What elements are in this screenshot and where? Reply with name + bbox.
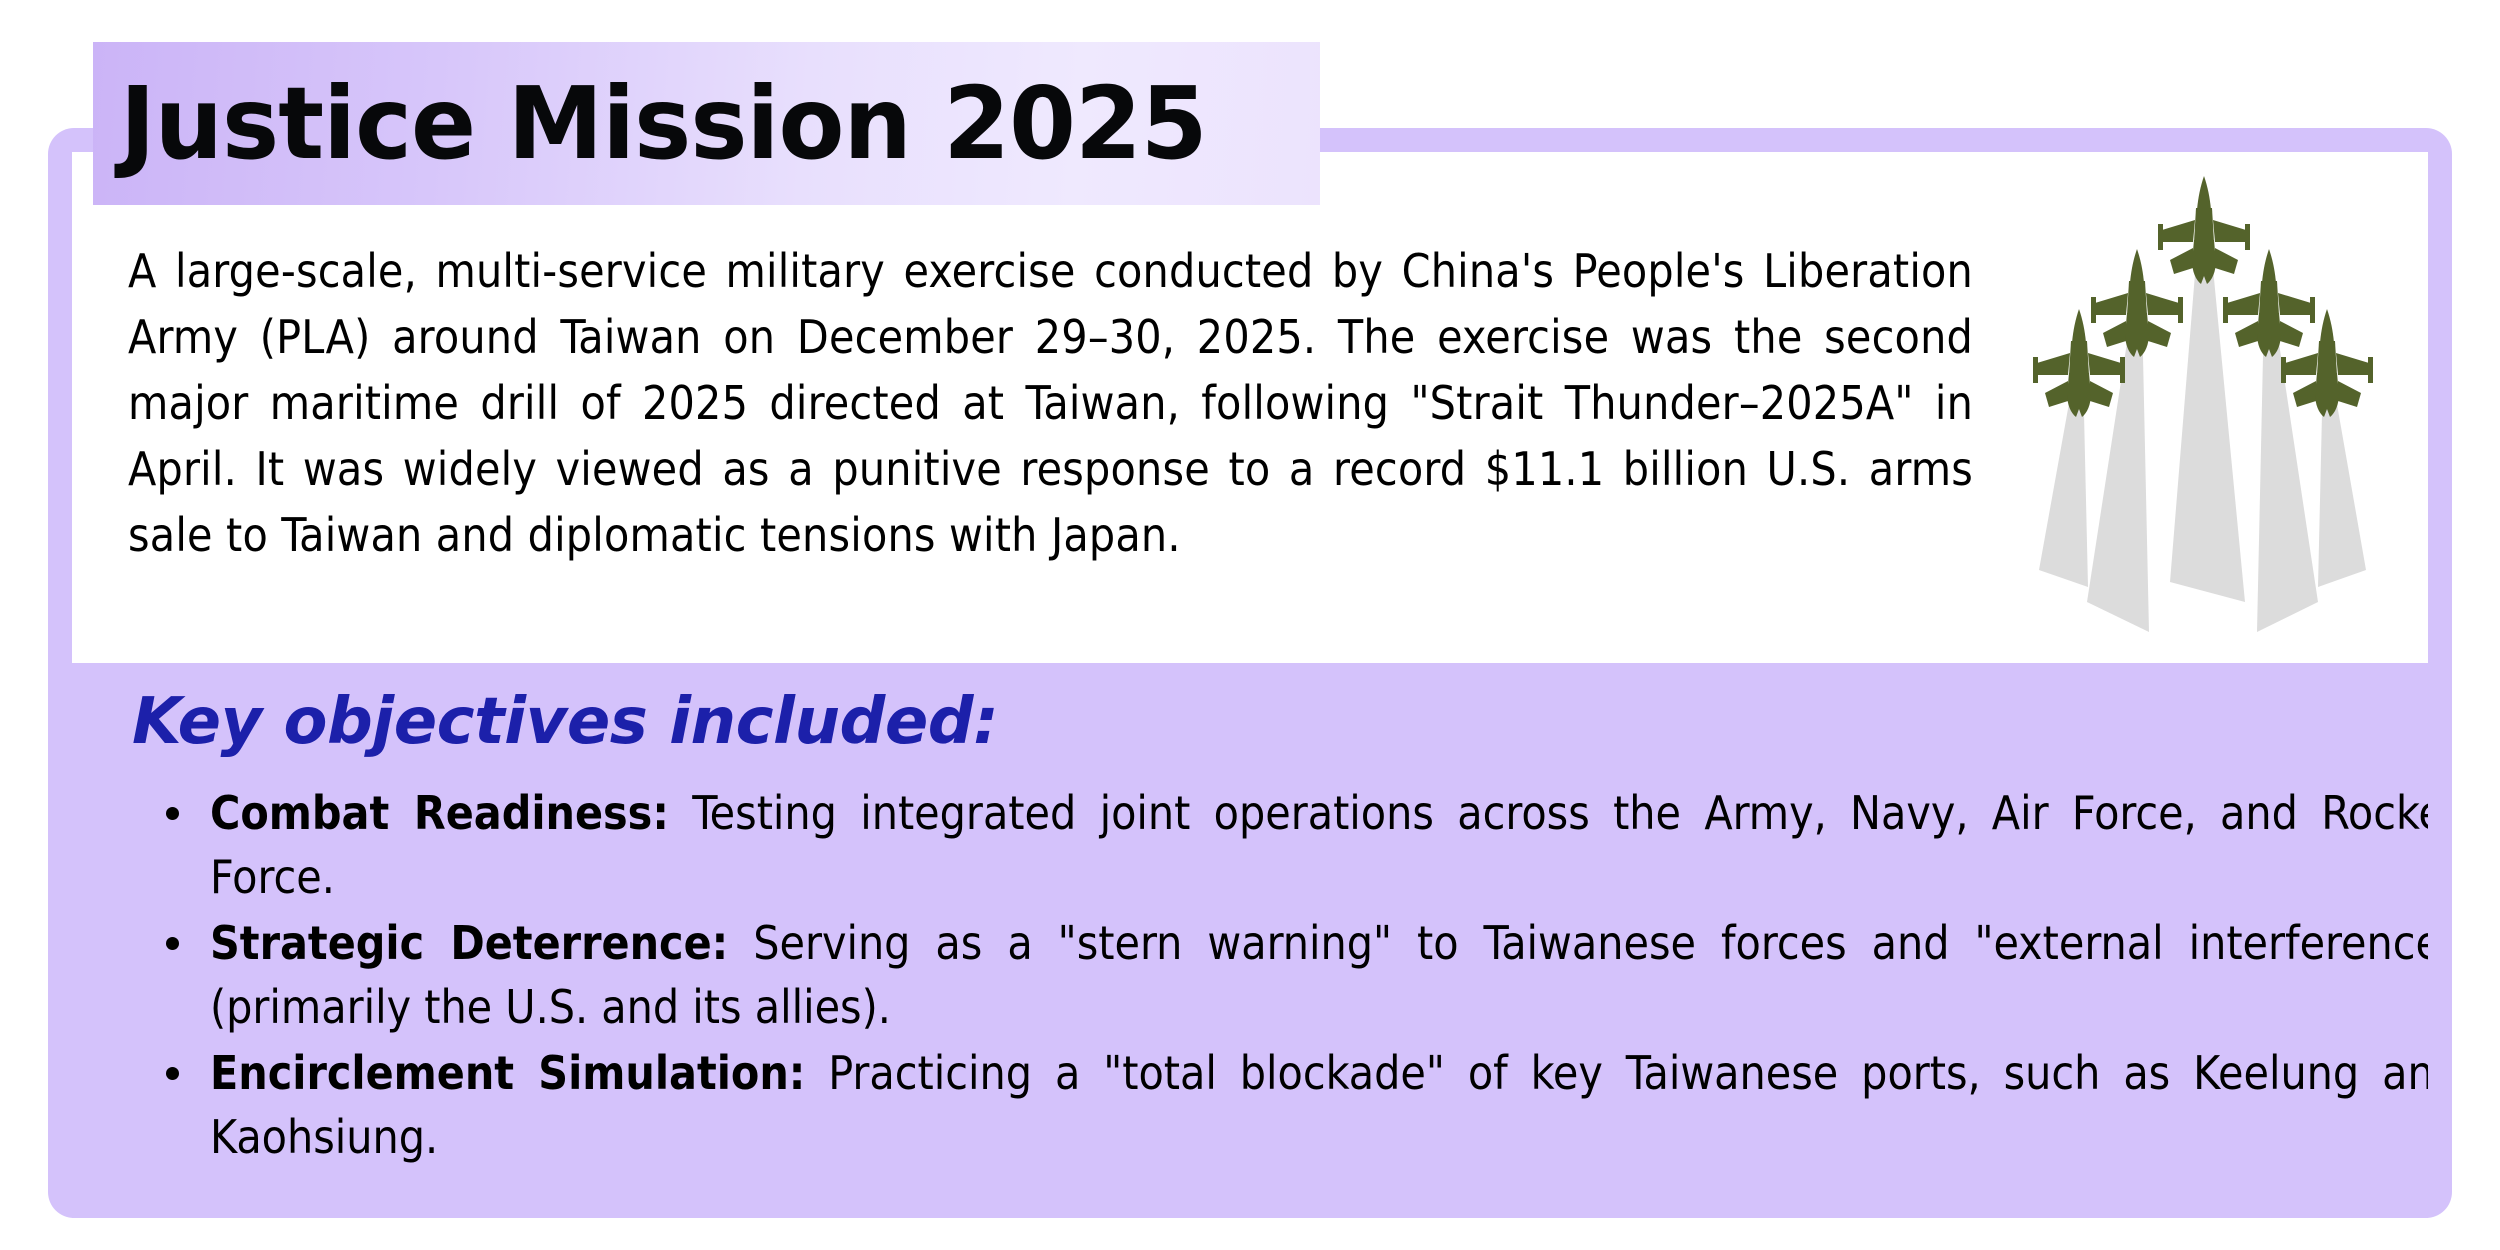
list-item: Encirclement Simulation: Practicing a "t… — [210, 1041, 2428, 1169]
objective-label: Combat Readiness: — [210, 786, 669, 840]
bullet-icon — [166, 1067, 179, 1080]
objectives-panel: Key objectives included: Combat Readines… — [72, 663, 2428, 1218]
objectives-heading: Key objectives included: — [132, 685, 998, 759]
list-item: Combat Readiness: Testing integrated joi… — [210, 781, 2428, 909]
objectives-list: Combat Readiness: Testing integrated joi… — [142, 781, 2428, 1171]
page-title: Justice Mission 2025 — [93, 74, 1207, 174]
bullet-icon — [166, 807, 179, 820]
description-paragraph: A large-scale, multi-service military ex… — [128, 238, 1973, 568]
title-banner: Justice Mission 2025 — [93, 42, 1320, 205]
bullet-icon — [166, 937, 179, 950]
objective-label: Encirclement Simulation: — [210, 1046, 805, 1100]
list-item: Strategic Deterrence: Serving as a "ster… — [210, 911, 2428, 1039]
description-panel: A large-scale, multi-service military ex… — [72, 152, 2428, 663]
fighter-jet-formation-illustration — [1998, 152, 2418, 663]
objective-label: Strategic Deterrence: — [210, 916, 728, 970]
contrail-group — [2039, 237, 2366, 632]
